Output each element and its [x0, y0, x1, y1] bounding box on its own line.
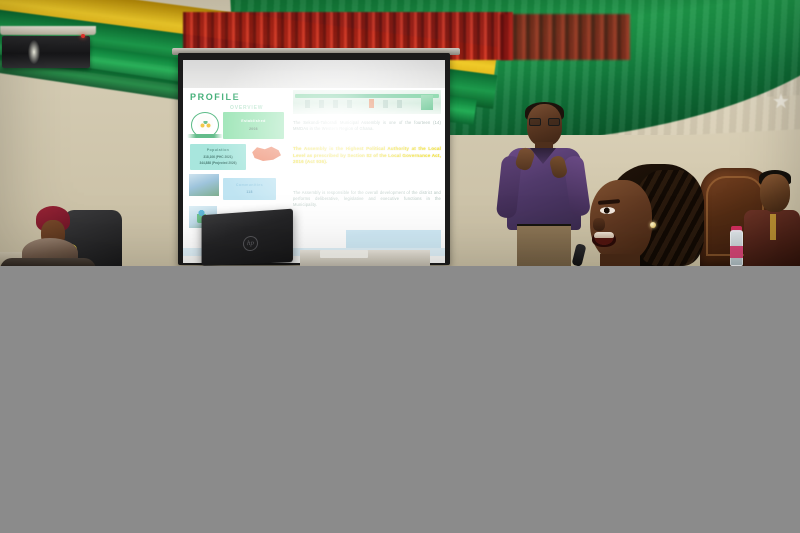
stat-value-census: 318,106 (PHC 2021): [190, 155, 246, 159]
stat-card-communities: Communities 118: [223, 178, 276, 200]
seated-chairman: [700, 168, 800, 266]
woman-teeth: [594, 232, 614, 238]
building-window: [305, 100, 310, 108]
slide-footer-band: [346, 230, 441, 248]
stat-label: Population: [190, 148, 246, 152]
eyeglasses-icon: [529, 118, 560, 126]
bottle-label: [730, 246, 743, 258]
slide-highlight-text: The Assembly is the Highest Political Au…: [293, 146, 441, 166]
screenshot-root: ★ PROFILE OVERVIEW Established 2008: [0, 0, 800, 533]
speaking-woman: [578, 166, 706, 266]
paper-document: [320, 250, 368, 258]
slide-photo-thumbnail: [189, 174, 219, 196]
building-roofline: [295, 94, 439, 98]
stat-label: Communities: [223, 183, 276, 187]
woman-neck: [600, 254, 640, 266]
building-window: [319, 100, 324, 108]
black-star-icon: ★: [770, 92, 792, 114]
air-conditioner-unit: [2, 36, 90, 68]
building-window: [397, 100, 402, 108]
interpreter-trousers: [517, 226, 571, 266]
slide-paragraph-3: The Assembly is responsible for the over…: [293, 190, 441, 208]
stat-card-established: Established 2008: [223, 112, 284, 139]
woman-eye: [600, 207, 615, 214]
building-side-block: [421, 95, 433, 110]
ac-power-indicator-icon: [81, 34, 85, 38]
stat-value-projected: 344,888 (Projected 2026): [190, 161, 246, 165]
building-window: [383, 100, 388, 108]
district-map-icon: [251, 146, 281, 161]
building-window: [347, 100, 352, 108]
earring-icon: [650, 222, 656, 228]
chairman-tie: [770, 214, 776, 240]
chairman-head: [760, 174, 790, 212]
building-window: [333, 100, 338, 108]
slide-subtitle: OVERVIEW: [230, 105, 263, 111]
stat-card-population: Population 318,106 (PHC 2021) 344,888 (P…: [190, 144, 246, 170]
building-door: [369, 99, 374, 108]
slide-paragraph-1: The Sekondi-Takoradi Municipal Assembly …: [293, 120, 441, 132]
foreground-attendee-shoulders: [0, 258, 96, 266]
air-conditioner-reflection: [28, 40, 40, 64]
stat-value: 2008: [223, 127, 284, 131]
emblem-ribbon: [187, 134, 223, 138]
woman-nose: [593, 218, 605, 231]
empty-gray-area: [0, 266, 800, 533]
slide-title: PROFILE: [190, 92, 240, 102]
sign-language-interpreter: [497, 104, 589, 266]
conference-hall-photo: ★ PROFILE OVERVIEW Established 2008: [0, 0, 800, 266]
stat-value: 118: [223, 190, 276, 194]
stat-label: Established: [223, 119, 284, 123]
stage-curtain-right: [500, 14, 630, 60]
